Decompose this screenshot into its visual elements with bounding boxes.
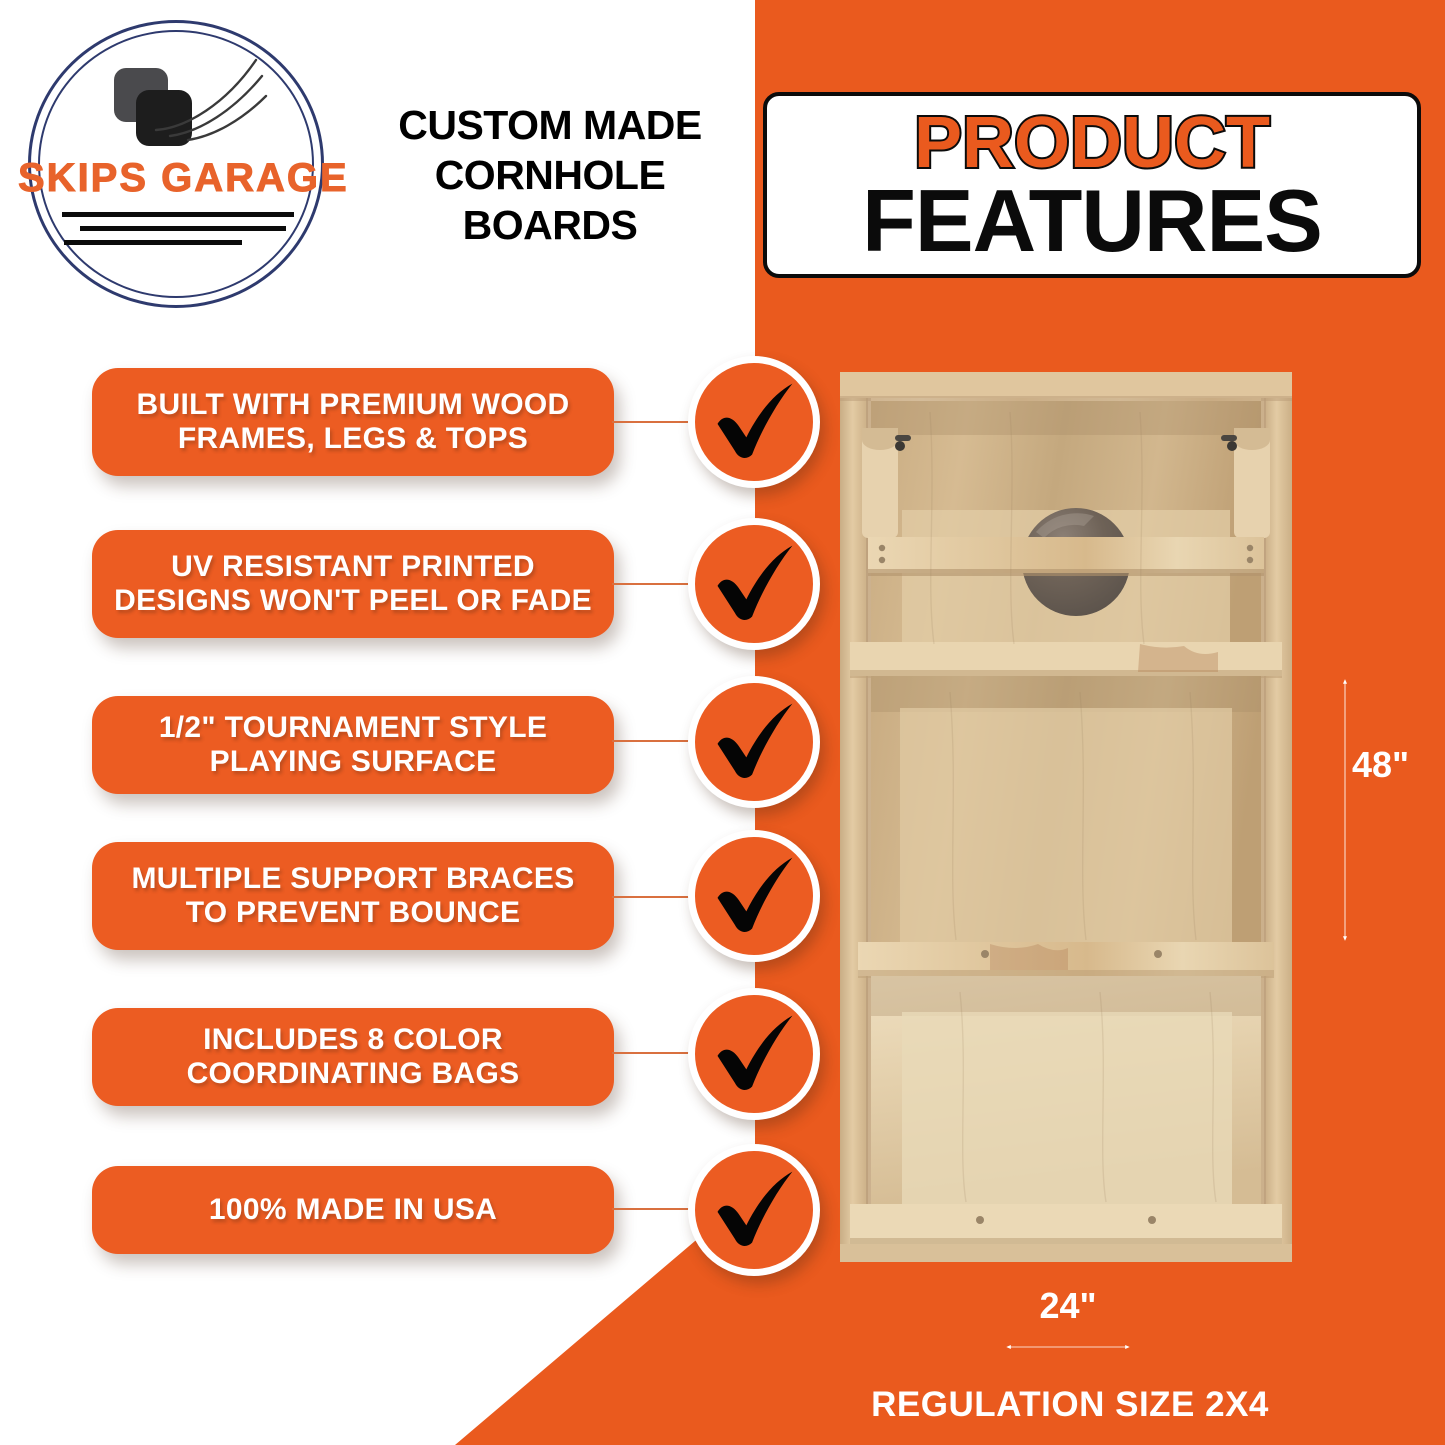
- height-dimension-label: 48": [1352, 744, 1409, 786]
- check-icon: [688, 676, 820, 808]
- motion-arcs-icon: [148, 52, 288, 142]
- logo-underline-1: [62, 212, 294, 217]
- logo-underline-3: [64, 240, 242, 245]
- check-icon: [688, 356, 820, 488]
- feature-pill[interactable]: UV RESISTANT PRINTED DESIGNS WON'T PEEL …: [92, 530, 614, 638]
- feature-connector-line: [612, 1052, 696, 1054]
- check-icon: [688, 1144, 820, 1276]
- width-dimension-arrow: [852, 1345, 1284, 1349]
- header-line-product: PRODUCT: [914, 106, 1270, 180]
- feature-pill-label: UV RESISTANT PRINTED DESIGNS WON'T PEEL …: [110, 550, 596, 618]
- feature-pill-label: 100% MADE IN USA: [209, 1193, 497, 1227]
- feature-pill[interactable]: BUILT WITH PREMIUM WOOD FRAMES, LEGS & T…: [92, 368, 614, 476]
- check-icon: [688, 830, 820, 962]
- width-dimension-label: 24": [852, 1285, 1284, 1327]
- feature-connector-line: [612, 740, 696, 742]
- header-line-features: FEATURES: [862, 178, 1322, 264]
- feature-pill[interactable]: 100% MADE IN USA: [92, 1166, 614, 1254]
- feature-connector-line: [612, 896, 696, 898]
- logo-underline-group: [18, 212, 338, 254]
- cornhole-board-photo: [840, 372, 1292, 1262]
- feature-pill-label: MULTIPLE SUPPORT BRACES TO PREVENT BOUNC…: [110, 862, 596, 930]
- check-icon: [688, 518, 820, 650]
- feature-pill[interactable]: MULTIPLE SUPPORT BRACES TO PREVENT BOUNC…: [92, 842, 614, 950]
- feature-connector-line: [612, 1208, 696, 1210]
- product-features-header: PRODUCT FEATURES: [763, 92, 1421, 278]
- brand-logo: SKIPS GARAGE: [18, 16, 338, 308]
- feature-pill[interactable]: 1/2" TOURNAMENT STYLE PLAYING SURFACE: [92, 696, 614, 794]
- page-headline: CUSTOM MADE CORNHOLE BOARDS: [350, 100, 750, 250]
- feature-connector-line: [612, 421, 696, 423]
- feature-connector-line: [612, 583, 696, 585]
- logo-wordmark: SKIPS GARAGE: [18, 156, 338, 201]
- feature-pill[interactable]: INCLUDES 8 COLOR COORDINATING BAGS: [92, 1008, 614, 1106]
- logo-underline-2: [80, 226, 286, 231]
- infographic-canvas: SKIPS GARAGE CUSTOM MADE CORNHOLE BOARDS…: [0, 0, 1445, 1445]
- regulation-size-note: REGULATION SIZE 2X4: [790, 1385, 1350, 1425]
- feature-pill-label: BUILT WITH PREMIUM WOOD FRAMES, LEGS & T…: [110, 388, 596, 456]
- feature-pill-label: 1/2" TOURNAMENT STYLE PLAYING SURFACE: [110, 711, 596, 779]
- feature-pill-label: INCLUDES 8 COLOR COORDINATING BAGS: [110, 1023, 596, 1091]
- height-dimension-arrow: [1343, 352, 1347, 1268]
- check-icon: [688, 988, 820, 1120]
